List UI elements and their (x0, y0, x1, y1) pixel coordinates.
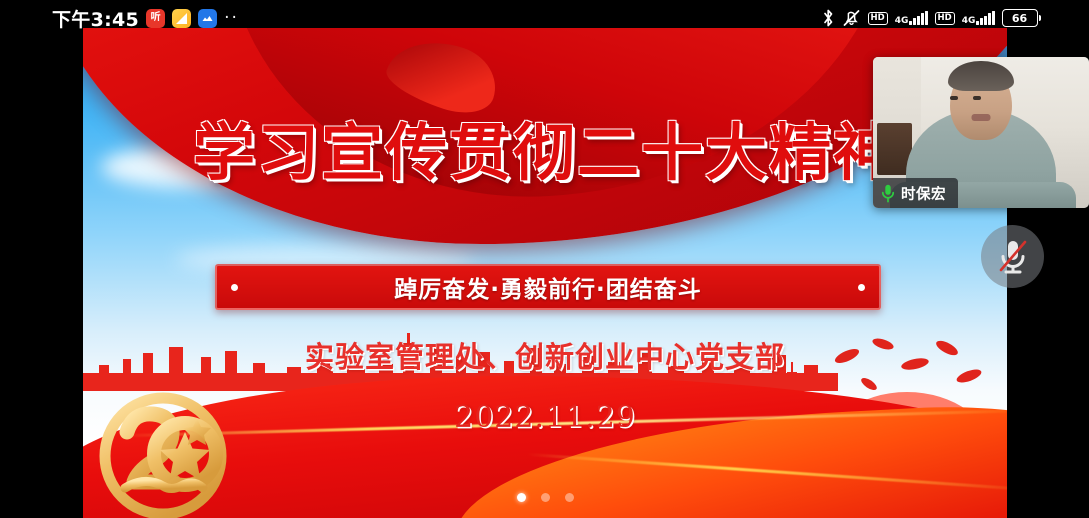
mute-microphone-button[interactable] (981, 225, 1044, 288)
signal-bars-2 (976, 12, 994, 25)
phone-screen: 下午3:45 听 ·· HD (0, 0, 1089, 518)
hd-icon-2: HD (935, 12, 955, 25)
bluetooth-icon (822, 9, 835, 27)
page-dot-1[interactable] (517, 493, 526, 502)
microphone-muted-icon (996, 237, 1030, 277)
slide-date: 2022.11.29 (83, 400, 1007, 435)
slide-subtitle: 实验室管理处、创新创业中心党支部 (83, 334, 1007, 376)
hd-icon-1: HD (868, 12, 888, 25)
listen-app-icon: 听 (146, 9, 165, 28)
slide-title: 学习宣传贯彻二十大精神 (83, 102, 1007, 192)
status-bar-overflow-icon: ·· (224, 13, 239, 23)
slogan-banner: 踔厉奋发·勇毅前行·团结奋斗 (215, 264, 881, 310)
notes-app-icon (172, 9, 191, 28)
participant-video-tile[interactable]: 时保宏 (873, 57, 1089, 208)
participant-eye-right (973, 96, 981, 100)
banner-dot-right (858, 284, 865, 291)
status-bar-right: HD 4G HD 4G 66 (822, 9, 1077, 27)
network-4g-icon-1: 4G (895, 12, 928, 25)
microphone-icon (881, 184, 895, 203)
network-4g-icon-2: 4G (962, 12, 995, 25)
maps-app-icon (198, 9, 217, 28)
participant-name-label: 时保宏 (901, 183, 946, 204)
banner-slogan-text: 踔厉奋发·勇毅前行·团结奋斗 (238, 270, 858, 304)
mute-bell-icon (842, 9, 861, 27)
participant-mouth (972, 114, 991, 121)
shared-slide-content[interactable]: 学习宣传贯彻二十大精神 踔厉奋发·勇毅前行·团结奋斗 实验室管理处、创新创业中心… (83, 28, 1007, 518)
network-4g-label-2: 4G (962, 17, 976, 25)
page-indicator[interactable] (83, 493, 1007, 502)
participant-name-chip: 时保宏 (873, 178, 958, 208)
page-dot-2[interactable] (541, 493, 550, 502)
signal-bars-1 (909, 12, 927, 25)
participant-eye-left (950, 96, 958, 100)
battery-percent-label: 66 (1012, 13, 1027, 24)
battery-icon: 66 (1002, 9, 1042, 27)
network-4g-label-1: 4G (895, 17, 909, 25)
page-dot-3[interactable] (565, 493, 574, 502)
banner-dot-left (231, 284, 238, 291)
